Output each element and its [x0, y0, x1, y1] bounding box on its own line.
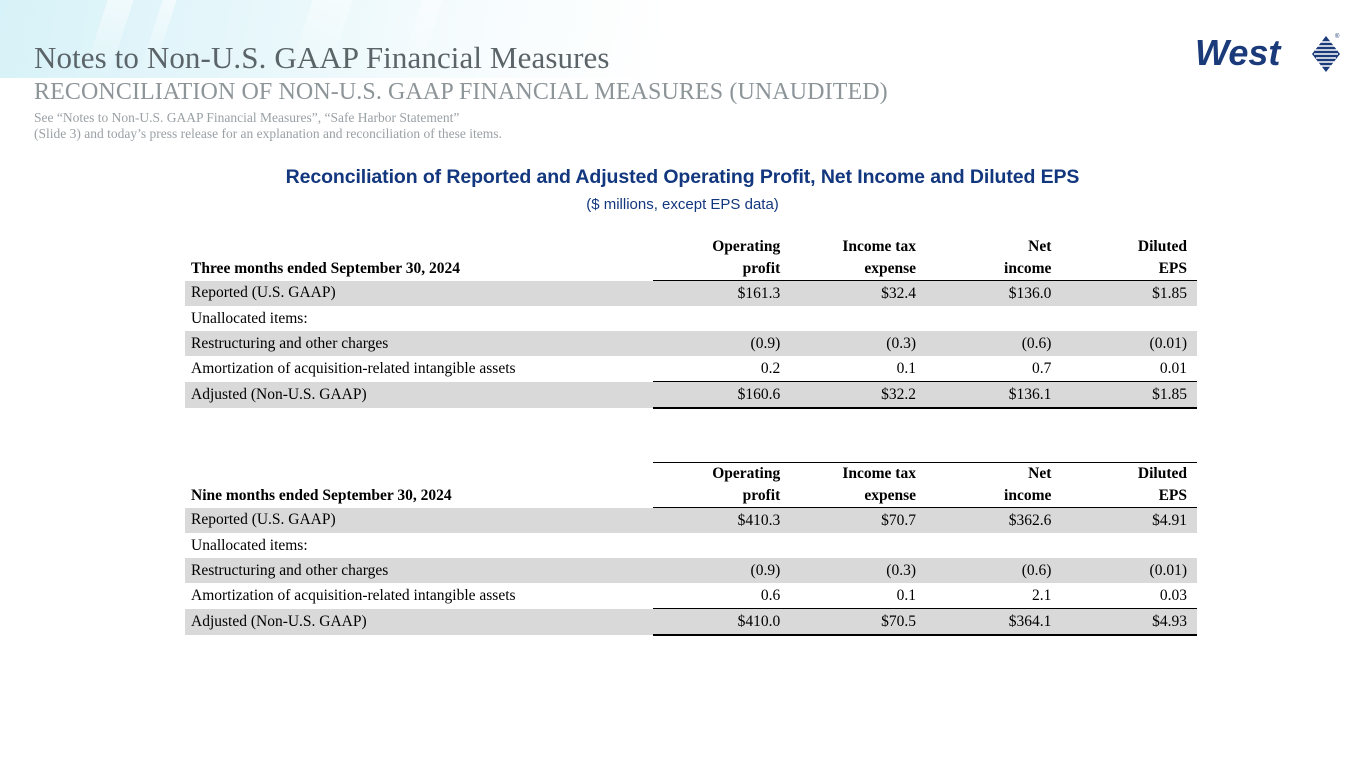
period-label: Three months ended September 30, 2024: [185, 258, 653, 281]
west-logo-wordmark: West: [1195, 32, 1282, 73]
cell-value: $70.7: [790, 508, 926, 534]
cell-value: 2.1: [926, 583, 1061, 609]
cell-value: (0.3): [790, 558, 926, 583]
column-header-1: Operating: [653, 463, 790, 486]
reconciliation-table-three-months: OperatingIncome taxNetDilutedThree month…: [185, 236, 1197, 409]
page-subtitle: ($ millions, except EPS data): [0, 196, 1365, 213]
registered-trademark-icon: ®: [1335, 33, 1340, 40]
cell-value: [926, 306, 1061, 331]
column-header-3-line2: income: [926, 258, 1061, 281]
cell-value: [926, 533, 1061, 558]
slide-subtitle: RECONCILIATION OF NON-U.S. GAAP FINANCIA…: [34, 79, 888, 106]
cell-value: $4.93: [1061, 609, 1197, 636]
cell-value: $364.1: [926, 609, 1061, 636]
column-header-1-line2: profit: [653, 258, 790, 281]
column-header-row-line2: Three months ended September 30, 2024pro…: [185, 258, 1197, 281]
table-row: Restructuring and other charges(0.9)(0.3…: [185, 558, 1197, 583]
cell-value: $136.1: [926, 382, 1061, 409]
table-row: Adjusted (Non-U.S. GAAP)$160.6$32.2$136.…: [185, 382, 1197, 409]
cell-value: $70.5: [790, 609, 926, 636]
column-header-4-line2: EPS: [1061, 485, 1197, 508]
column-header-4-line2: EPS: [1061, 258, 1197, 281]
table-row: Amortization of acquisition-related inta…: [185, 583, 1197, 609]
cell-value: (0.01): [1061, 331, 1197, 356]
cell-value: [653, 533, 790, 558]
table-row: Reported (U.S. GAAP)$161.3$32.4$136.0$1.…: [185, 281, 1197, 307]
table-row: Restructuring and other charges(0.9)(0.3…: [185, 331, 1197, 356]
column-header-2-line2: expense: [790, 258, 926, 281]
cell-value: 0.1: [790, 356, 926, 382]
cell-value: [1061, 306, 1197, 331]
cell-value: (0.6): [926, 331, 1061, 356]
row-label: Reported (U.S. GAAP): [185, 281, 653, 307]
row-label: Unallocated items:: [185, 533, 653, 558]
cell-value: [1061, 533, 1197, 558]
slide-title: Notes to Non-U.S. GAAP Financial Measure…: [34, 40, 610, 76]
slide-note-line-1: See “Notes to Non-U.S. GAAP Financial Me…: [34, 110, 502, 126]
row-label: Amortization of acquisition-related inta…: [185, 356, 653, 382]
cell-value: 0.1: [790, 583, 926, 609]
page-title: Reconciliation of Reported and Adjusted …: [0, 166, 1365, 189]
column-header-row-line1: OperatingIncome taxNetDiluted: [185, 463, 1197, 486]
west-logo-graphic: West ®: [1195, 30, 1341, 78]
column-header-3: Net: [926, 236, 1061, 258]
cell-value: $362.6: [926, 508, 1061, 534]
cell-value: (0.01): [1061, 558, 1197, 583]
header-spacer: [185, 236, 653, 258]
column-header-4: Diluted: [1061, 236, 1197, 258]
cell-value: $1.85: [1061, 382, 1197, 409]
cell-value: 0.7: [926, 356, 1061, 382]
cell-value: (0.3): [790, 331, 926, 356]
table-row: Reported (U.S. GAAP)$410.3$70.7$362.6$4.…: [185, 508, 1197, 534]
cell-value: 0.03: [1061, 583, 1197, 609]
column-header-2-line2: expense: [790, 485, 926, 508]
table-row: Unallocated items:: [185, 306, 1197, 331]
cell-value: 0.01: [1061, 356, 1197, 382]
column-header-1: Operating: [653, 236, 790, 258]
cell-value: (0.9): [653, 558, 790, 583]
column-header-2: Income tax: [790, 236, 926, 258]
row-label: Reported (U.S. GAAP): [185, 508, 653, 534]
cell-value: [653, 306, 790, 331]
slide-note-line-2: (Slide 3) and today’s press release for …: [34, 126, 502, 142]
diamond-icon: [1312, 36, 1340, 72]
cell-value: $410.0: [653, 609, 790, 636]
cell-value: 0.2: [653, 356, 790, 382]
column-header-3-line2: income: [926, 485, 1061, 508]
cell-value: $4.91: [1061, 508, 1197, 534]
column-header-row-line2: Nine months ended September 30, 2024prof…: [185, 485, 1197, 508]
cell-value: $410.3: [653, 508, 790, 534]
cell-value: [790, 306, 926, 331]
cell-value: (0.9): [653, 331, 790, 356]
cell-value: $161.3: [653, 281, 790, 307]
row-label: Restructuring and other charges: [185, 558, 653, 583]
row-label: Adjusted (Non-U.S. GAAP): [185, 382, 653, 409]
cell-value: (0.6): [926, 558, 1061, 583]
row-label: Adjusted (Non-U.S. GAAP): [185, 609, 653, 636]
table-row: Amortization of acquisition-related inta…: [185, 356, 1197, 382]
slide-note: See “Notes to Non-U.S. GAAP Financial Me…: [34, 110, 502, 142]
cell-value: 0.6: [653, 583, 790, 609]
reconciliation-table-nine-months: OperatingIncome taxNetDilutedNine months…: [185, 462, 1197, 636]
table-body: OperatingIncome taxNetDilutedNine months…: [185, 463, 1197, 636]
cell-value: $1.85: [1061, 281, 1197, 307]
column-header-row-line1: OperatingIncome taxNetDiluted: [185, 236, 1197, 258]
column-header-3: Net: [926, 463, 1061, 486]
column-header-4: Diluted: [1061, 463, 1197, 486]
table-row: Adjusted (Non-U.S. GAAP)$410.0$70.5$364.…: [185, 609, 1197, 636]
cell-value: [790, 533, 926, 558]
cell-value: $136.0: [926, 281, 1061, 307]
period-label: Nine months ended September 30, 2024: [185, 485, 653, 508]
header-spacer: [185, 463, 653, 486]
west-logo: West ®: [1195, 30, 1341, 78]
row-label: Unallocated items:: [185, 306, 653, 331]
cell-value: $160.6: [653, 382, 790, 409]
table-body: OperatingIncome taxNetDilutedThree month…: [185, 236, 1197, 408]
column-header-2: Income tax: [790, 463, 926, 486]
row-label: Restructuring and other charges: [185, 331, 653, 356]
cell-value: $32.2: [790, 382, 926, 409]
cell-value: $32.4: [790, 281, 926, 307]
table-row: Unallocated items:: [185, 533, 1197, 558]
row-label: Amortization of acquisition-related inta…: [185, 583, 653, 609]
column-header-1-line2: profit: [653, 485, 790, 508]
